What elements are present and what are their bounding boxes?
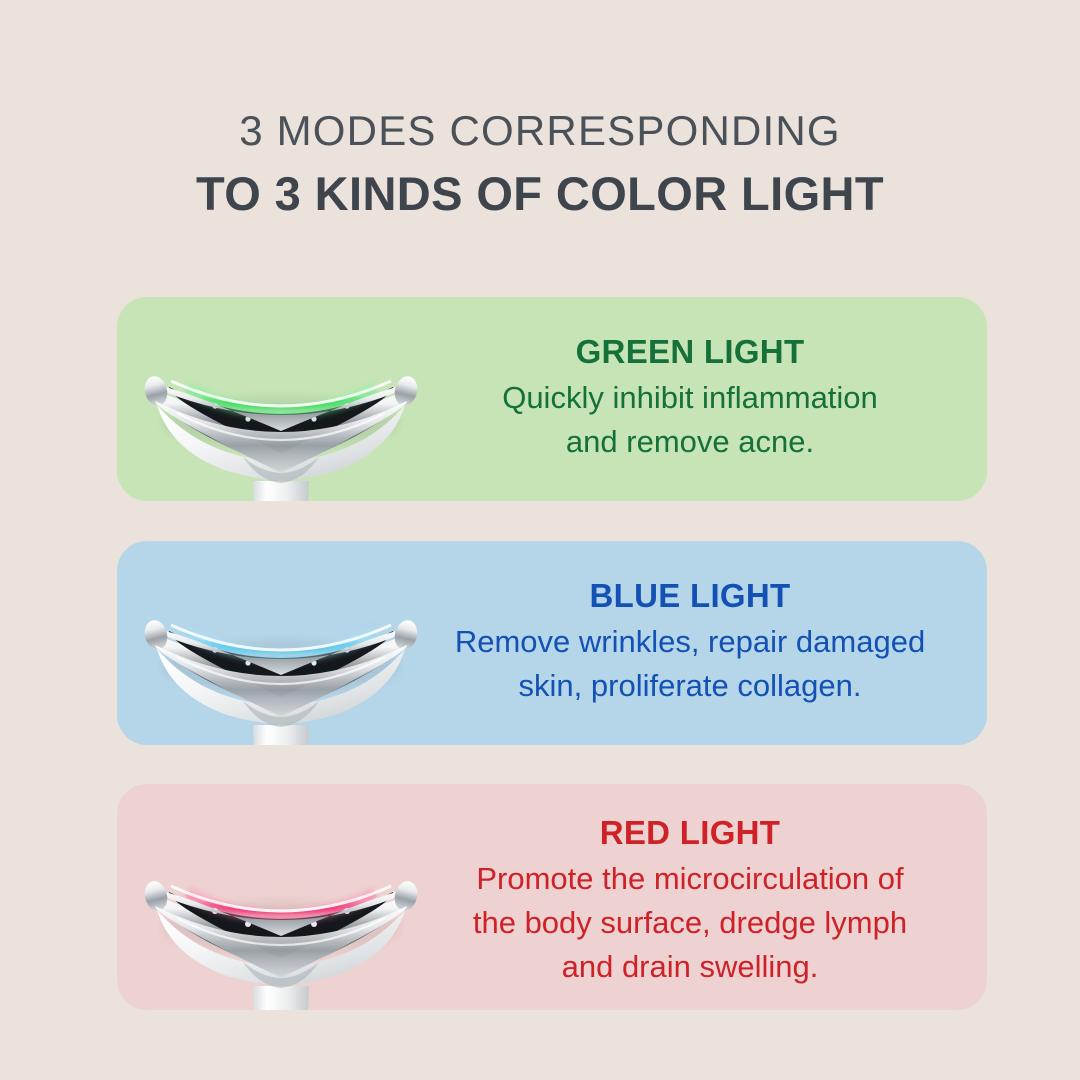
card-desc-green: Quickly inhibit inflammation and remove … bbox=[417, 376, 963, 464]
card-title-blue: BLUE LIGHT bbox=[417, 575, 963, 616]
heading-line-1: 3 MODES CORRESPONDING bbox=[0, 106, 1080, 156]
card-title-green: GREEN LIGHT bbox=[417, 331, 963, 372]
card-text-blue: BLUE LIGHT Remove wrinkles, repair damag… bbox=[417, 575, 963, 708]
card-text-green: GREEN LIGHT Quickly inhibit inflammation… bbox=[417, 331, 963, 464]
mode-card-blue: BLUE LIGHT Remove wrinkles, repair damag… bbox=[117, 541, 987, 745]
card-desc-blue: Remove wrinkles, repair damaged skin, pr… bbox=[417, 620, 963, 708]
page-heading: 3 MODES CORRESPONDING TO 3 KINDS OF COLO… bbox=[0, 106, 1080, 222]
neck-beauty-device-icon bbox=[131, 575, 431, 745]
card-text-red: RED LIGHT Promote the microcirculation o… bbox=[417, 812, 963, 989]
heading-line-2: TO 3 KINDS OF COLOR LIGHT bbox=[0, 166, 1080, 222]
card-title-red: RED LIGHT bbox=[417, 812, 963, 853]
mode-card-green: GREEN LIGHT Quickly inhibit inflammation… bbox=[117, 297, 987, 501]
card-desc-red: Promote the microcirculation of the body… bbox=[417, 857, 963, 989]
neck-beauty-device-icon bbox=[131, 836, 431, 1010]
mode-card-red: RED LIGHT Promote the microcirculation o… bbox=[117, 784, 987, 1010]
neck-beauty-device-icon bbox=[131, 331, 431, 501]
